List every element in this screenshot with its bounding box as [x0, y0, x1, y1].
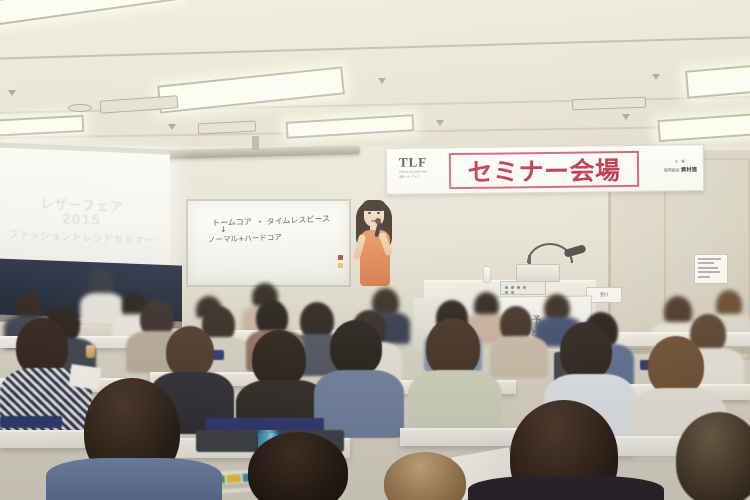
- sprinkler-head: [652, 74, 660, 80]
- red-magnet: [338, 255, 343, 260]
- tlf-logo-sub-2: 東京レザーフェア: [399, 175, 443, 179]
- audience-head: [560, 322, 612, 380]
- ceiling-light-panel: [0, 115, 84, 138]
- banner-title-box: セミナー会場: [449, 151, 639, 189]
- tlf-logo: TLF TOKYO LEATHER FAIR 東京レザーフェア: [399, 155, 443, 186]
- banner-credit-org: 協同組合 資材連: [664, 165, 697, 173]
- microphone-head: [375, 218, 381, 224]
- seminar-venue-banner: TLF TOKYO LEATHER FAIR 東京レザーフェア セミナー会場 主…: [386, 144, 705, 195]
- whiteboard-line-2: ・ タイムレスピース: [256, 213, 330, 228]
- ceiling-light-panel: [657, 112, 750, 142]
- banner-credit: 主 催 協同組合 資材連: [664, 158, 697, 173]
- audience-head: [426, 318, 480, 378]
- ceiling-light-panel: [685, 61, 750, 98]
- projection-screen: レザーフェア 2015 ファッショントレンドセミナー: [0, 147, 170, 274]
- seminar-room-photo: レザーフェア 2015 ファッショントレンドセミナー トームコア ・ タイムレス…: [0, 0, 750, 500]
- audience-body-foreground: [468, 476, 664, 500]
- laptop[interactable]: [516, 264, 560, 282]
- sprinkler-head: [378, 78, 386, 84]
- banner-title: セミナー会場: [451, 153, 637, 187]
- rail-mount: [252, 136, 259, 150]
- ceiling-light-panel: [0, 0, 181, 28]
- whiteboard-line-1: トームコア: [212, 216, 252, 228]
- paper-sheet: [69, 364, 102, 390]
- audience-body: [314, 370, 404, 438]
- tlf-logo-sub-1: TOKYO LEATHER FAIR: [399, 170, 443, 174]
- ceiling: [0, 0, 750, 152]
- credit-org-name: 資材連: [681, 167, 697, 173]
- water-bottle-stage: [483, 266, 491, 283]
- whiteboard: トームコア ・ タイムレスピース ↓ ノーマル+ハードコア: [186, 199, 351, 287]
- tlf-logo-mark: TLF: [399, 155, 443, 169]
- audience-body-foreground: [46, 458, 222, 500]
- paper-cup: [86, 345, 95, 358]
- credit-org-prefix: 協同組合: [664, 167, 680, 172]
- chair-cushion: [0, 416, 62, 428]
- whiteboard-line-3: ノーマル+ハードコア: [208, 232, 282, 246]
- yellow-magnet: [338, 263, 343, 268]
- audience-head: [166, 326, 214, 378]
- ceiling-speaker-grille: [572, 97, 646, 111]
- sprinkler-head: [168, 124, 176, 130]
- audience-head: [330, 320, 382, 376]
- sprinkler-head: [8, 90, 16, 96]
- audio-mixer[interactable]: [500, 281, 546, 295]
- ceiling-light-panel: [286, 114, 415, 139]
- audience-body: [490, 336, 548, 378]
- wall-notice-sign: [694, 254, 728, 284]
- banner-credit-label: 主 催: [664, 158, 697, 163]
- audience-head: [648, 336, 704, 396]
- ac-diffuser: [68, 104, 92, 112]
- sprinkler-head: [622, 114, 630, 120]
- presenter-fringe: [362, 200, 386, 211]
- sprinkler-head: [436, 120, 444, 126]
